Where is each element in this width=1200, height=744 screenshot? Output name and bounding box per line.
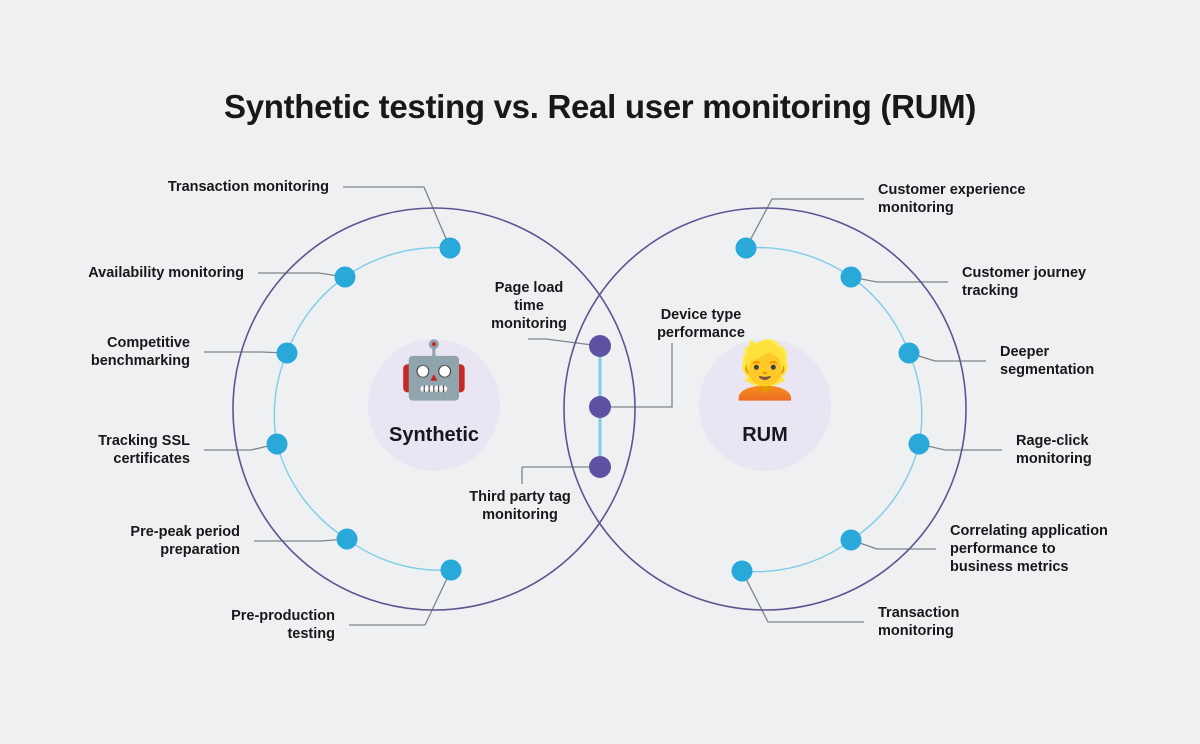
- leader-line: [909, 353, 986, 361]
- leader-line: [851, 540, 936, 549]
- person-icon: 👱: [705, 342, 825, 398]
- synthetic-node-dot-1[interactable]: [335, 267, 356, 288]
- synthetic-node-dot-0[interactable]: [440, 238, 461, 259]
- synthetic-node-label-0: Transaction monitoring: [149, 178, 329, 196]
- rum-node-label-3: Rage-click monitoring: [1016, 432, 1141, 468]
- rum-node-dot-5[interactable]: [732, 561, 753, 582]
- shared-node-dot-0[interactable]: [589, 335, 611, 357]
- rum-node-dot-2[interactable]: [899, 343, 920, 364]
- leader-line: [343, 187, 450, 248]
- leader-line: [919, 444, 1002, 450]
- rum-node-label-2: Deeper segmentation: [1000, 343, 1130, 379]
- synthetic-node-label-1: Availability monitoring: [74, 264, 244, 282]
- rum-node-dot-0[interactable]: [736, 238, 757, 259]
- rum-node-label-0: Customer experience monitoring: [878, 181, 1058, 217]
- synthetic-node-dot-4[interactable]: [337, 529, 358, 550]
- diagram-canvas: Synthetic testing vs. Real user monitori…: [0, 0, 1200, 744]
- leader-line: [851, 277, 948, 282]
- synthetic-node-label-3: Tracking SSL certificates: [70, 432, 190, 468]
- synthetic-node-label-2: Competitive benchmarking: [70, 334, 190, 370]
- leader-line: [258, 273, 345, 277]
- shared-node-label-2: Third party tag monitoring: [455, 488, 585, 524]
- shared-node-label-1: Device type performance: [640, 306, 762, 342]
- synthetic-node-dot-5[interactable]: [441, 560, 462, 581]
- synthetic-node-dot-2[interactable]: [277, 343, 298, 364]
- leader-line: [746, 199, 864, 248]
- leader-line: [600, 343, 672, 407]
- shared-node-label-0: Page load time monitoring: [468, 279, 590, 333]
- leader-line: [204, 444, 277, 450]
- leader-line: [204, 352, 287, 353]
- shared-node-dot-2[interactable]: [589, 456, 611, 478]
- rum-node-dot-1[interactable]: [841, 267, 862, 288]
- synthetic-node-label-4: Pre-peak period preparation: [90, 523, 240, 559]
- rum-node-dot-3[interactable]: [909, 434, 930, 455]
- rum-node-label-4: Correlating application performance to b…: [950, 522, 1128, 576]
- rum-node-label-1: Customer journey tracking: [962, 264, 1122, 300]
- shared-node-dot-1[interactable]: [589, 396, 611, 418]
- synthetic-node-label-5: Pre-production testing: [180, 607, 335, 643]
- synthetic-hub-label: Synthetic: [354, 424, 514, 447]
- leader-line: [254, 539, 347, 541]
- leader-line: [742, 571, 864, 622]
- rum-node-label-5: Transaction monitoring: [878, 604, 1008, 640]
- robot-icon: 🤖: [374, 342, 494, 398]
- rum-node-dot-4[interactable]: [841, 530, 862, 551]
- synthetic-node-dot-3[interactable]: [267, 434, 288, 455]
- rum-hub-label: RUM: [685, 424, 845, 447]
